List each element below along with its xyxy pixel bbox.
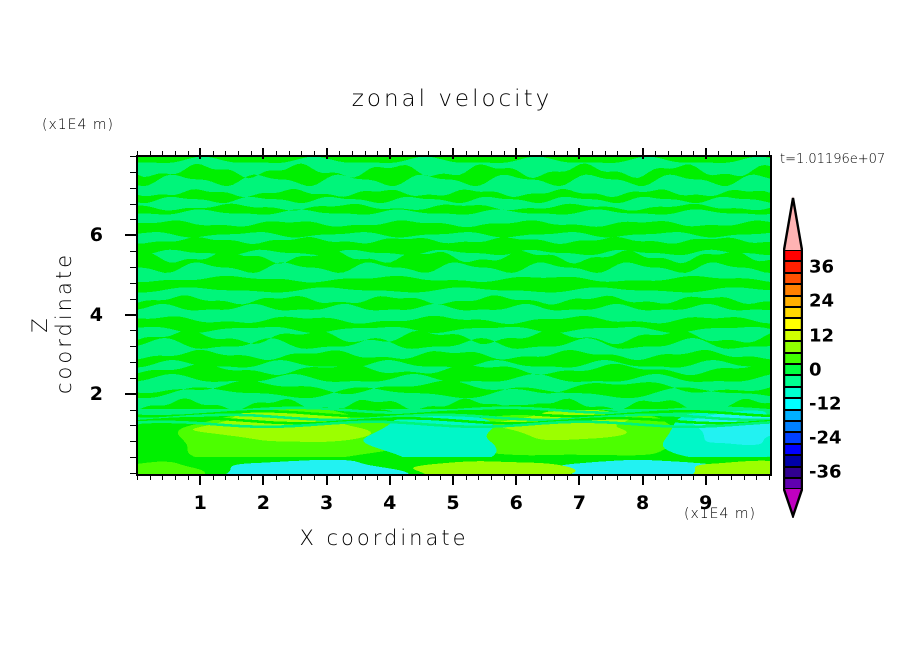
colorbar-tick-label: -36 — [809, 462, 842, 483]
x-minor-tick-top — [756, 151, 757, 157]
x-minor-tick-top — [162, 151, 163, 157]
y-minor-tick — [130, 473, 136, 474]
x-minor-tick — [137, 474, 138, 480]
x-axis-unit-label: (x1E4 m) — [684, 506, 756, 522]
x-tick-label: 9 — [699, 492, 712, 514]
x-minor-tick — [162, 474, 163, 480]
x-minor-tick-top — [605, 151, 606, 157]
contour-field — [138, 157, 770, 474]
y-minor-tick — [130, 378, 136, 379]
x-minor-tick-top — [630, 151, 631, 157]
x-minor-tick-top — [289, 151, 290, 157]
x-major-tick-top — [326, 148, 328, 159]
x-minor-tick — [491, 474, 492, 480]
x-minor-tick — [301, 474, 302, 480]
y-minor-tick — [130, 425, 136, 426]
x-tick-label: 4 — [383, 492, 396, 514]
x-minor-tick-top — [668, 151, 669, 157]
x-minor-tick-top — [276, 151, 277, 157]
x-minor-tick-top — [225, 151, 226, 157]
x-minor-tick-top — [301, 151, 302, 157]
x-minor-tick-top — [339, 151, 340, 157]
colorbar — [783, 196, 803, 518]
x-minor-tick — [756, 474, 757, 480]
x-minor-tick-top — [352, 151, 353, 157]
x-minor-tick — [339, 474, 340, 480]
x-minor-tick-top — [428, 151, 429, 157]
x-major-tick — [199, 474, 201, 485]
x-minor-tick — [415, 474, 416, 480]
x-minor-tick-top — [150, 151, 151, 157]
x-major-tick-top — [515, 148, 517, 159]
x-major-tick — [389, 474, 391, 485]
y-axis-title: Z coordinate — [28, 254, 76, 394]
x-minor-tick-top — [175, 151, 176, 157]
x-minor-tick — [617, 474, 618, 480]
x-minor-tick — [188, 474, 189, 480]
x-tick-label: 2 — [257, 492, 270, 514]
x-minor-tick-top — [693, 151, 694, 157]
x-minor-tick-top — [415, 151, 416, 157]
x-minor-tick — [365, 474, 366, 480]
x-minor-tick-top — [504, 151, 505, 157]
y-minor-tick — [130, 330, 136, 331]
x-major-tick — [262, 474, 264, 485]
x-minor-tick — [440, 474, 441, 480]
x-minor-tick-top — [681, 151, 682, 157]
x-minor-tick — [478, 474, 479, 480]
timestamp-annotation: t=1.01196e+07 — [780, 152, 885, 167]
x-minor-tick-top — [402, 151, 403, 157]
x-minor-tick-top — [592, 151, 593, 157]
y-minor-tick — [130, 251, 136, 252]
x-minor-tick — [769, 474, 770, 480]
x-minor-tick — [289, 474, 290, 480]
y-minor-tick — [130, 267, 136, 268]
x-minor-tick — [314, 474, 315, 480]
x-minor-tick — [554, 474, 555, 480]
x-minor-tick — [592, 474, 593, 480]
x-major-tick-top — [642, 148, 644, 159]
colorbar-tick-label: 24 — [809, 291, 834, 312]
x-major-tick — [515, 474, 517, 485]
x-minor-tick — [150, 474, 151, 480]
colorbar-tick-label: 12 — [809, 325, 834, 346]
x-minor-tick-top — [466, 151, 467, 157]
x-minor-tick-top — [718, 151, 719, 157]
y-minor-tick — [130, 441, 136, 442]
x-minor-tick-top — [238, 151, 239, 157]
x-minor-tick — [251, 474, 252, 480]
x-major-tick-top — [705, 148, 707, 159]
y-minor-tick — [130, 410, 136, 411]
x-minor-tick — [744, 474, 745, 480]
y-minor-tick — [130, 188, 136, 189]
x-minor-tick — [466, 474, 467, 480]
x-minor-tick — [213, 474, 214, 480]
x-minor-tick — [225, 474, 226, 480]
x-minor-tick-top — [769, 151, 770, 157]
x-minor-tick-top — [541, 151, 542, 157]
x-minor-tick-top — [188, 151, 189, 157]
x-minor-tick-top — [478, 151, 479, 157]
x-minor-tick — [731, 474, 732, 480]
y-minor-tick — [130, 283, 136, 284]
y-tick-label: 2 — [90, 383, 103, 405]
x-major-tick — [642, 474, 644, 485]
colorbar-tick-label: 36 — [809, 257, 834, 278]
y-minor-tick — [130, 457, 136, 458]
x-axis-title: X coordinate — [0, 526, 768, 550]
x-minor-tick-top — [377, 151, 378, 157]
y-minor-tick — [130, 172, 136, 173]
y-minor-tick — [130, 362, 136, 363]
y-minor-tick — [130, 156, 136, 157]
contour-plot-area — [136, 155, 772, 476]
y-major-tick — [125, 393, 136, 395]
x-minor-tick — [630, 474, 631, 480]
y-minor-tick — [130, 204, 136, 205]
y-minor-tick — [130, 299, 136, 300]
x-major-tick-top — [199, 148, 201, 159]
x-major-tick-top — [578, 148, 580, 159]
page-title: zonal velocity — [0, 86, 904, 112]
colorbar-tick-label: -24 — [809, 428, 842, 449]
x-minor-tick — [238, 474, 239, 480]
x-minor-tick-top — [491, 151, 492, 157]
x-minor-tick-top — [655, 151, 656, 157]
x-tick-label: 5 — [446, 492, 459, 514]
x-minor-tick — [605, 474, 606, 480]
x-minor-tick — [402, 474, 403, 480]
y-major-tick — [125, 234, 136, 236]
x-tick-label: 1 — [194, 492, 207, 514]
x-minor-tick-top — [567, 151, 568, 157]
x-tick-label: 3 — [320, 492, 333, 514]
colorbar-tick-label: -12 — [809, 393, 842, 414]
x-tick-label: 6 — [510, 492, 523, 514]
y-minor-tick — [130, 219, 136, 220]
x-minor-tick-top — [744, 151, 745, 157]
colorbar-tick-label: 0 — [809, 359, 822, 380]
x-minor-tick-top — [440, 151, 441, 157]
y-tick-label: 4 — [90, 304, 103, 326]
x-minor-tick — [352, 474, 353, 480]
x-major-tick — [326, 474, 328, 485]
x-minor-tick — [693, 474, 694, 480]
x-minor-tick-top — [529, 151, 530, 157]
x-major-tick-top — [452, 148, 454, 159]
x-minor-tick — [655, 474, 656, 480]
x-minor-tick-top — [213, 151, 214, 157]
y-tick-label: 6 — [90, 224, 103, 246]
y-minor-tick — [130, 346, 136, 347]
x-minor-tick — [718, 474, 719, 480]
x-tick-label: 7 — [573, 492, 586, 514]
x-major-tick — [705, 474, 707, 485]
y-axis-unit-label: (x1E4 m) — [42, 117, 114, 133]
x-major-tick — [452, 474, 454, 485]
x-major-tick-top — [262, 148, 264, 159]
x-major-tick-top — [389, 148, 391, 159]
x-minor-tick-top — [251, 151, 252, 157]
x-minor-tick — [541, 474, 542, 480]
x-minor-tick — [529, 474, 530, 480]
x-minor-tick-top — [137, 151, 138, 157]
x-minor-tick — [567, 474, 568, 480]
x-minor-tick — [504, 474, 505, 480]
x-minor-tick — [428, 474, 429, 480]
x-minor-tick-top — [314, 151, 315, 157]
x-minor-tick — [681, 474, 682, 480]
x-tick-label: 8 — [636, 492, 649, 514]
x-minor-tick-top — [554, 151, 555, 157]
x-minor-tick — [377, 474, 378, 480]
x-minor-tick — [175, 474, 176, 480]
y-major-tick — [125, 314, 136, 316]
x-minor-tick-top — [617, 151, 618, 157]
x-major-tick — [578, 474, 580, 485]
colorbar-outline — [783, 196, 803, 518]
x-minor-tick-top — [365, 151, 366, 157]
x-minor-tick-top — [731, 151, 732, 157]
x-minor-tick — [276, 474, 277, 480]
x-minor-tick — [668, 474, 669, 480]
